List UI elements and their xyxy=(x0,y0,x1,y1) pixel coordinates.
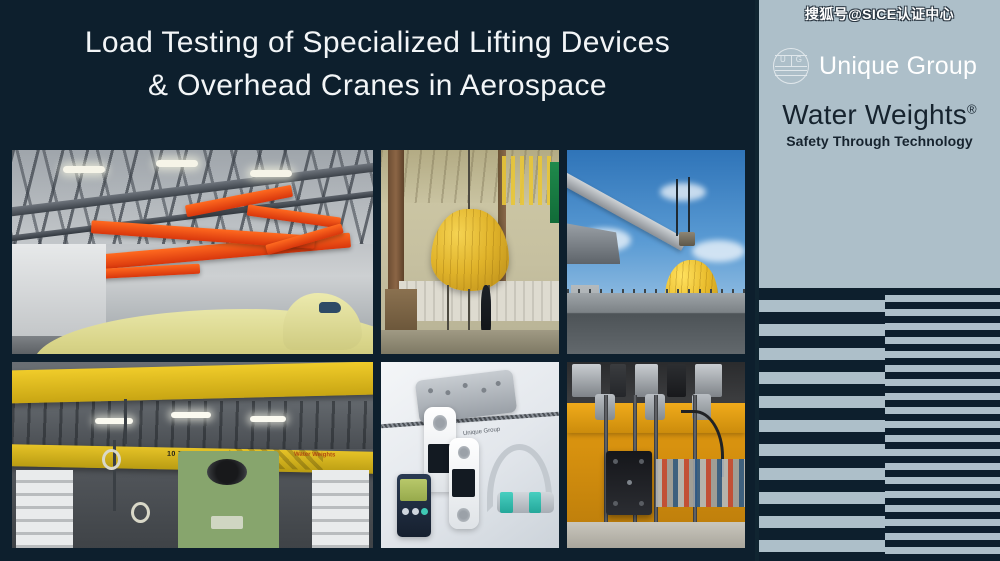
photo-yellow-gantry-10ton: 10 TON Water Weights Yellow overhead gan… xyxy=(12,362,373,548)
title-line-2: & Overhead Cranes in Aerospace xyxy=(24,65,731,108)
product-name: Water Weights® xyxy=(759,99,1000,131)
title-line-1: Load Testing of Specialized Lifting Devi… xyxy=(24,22,731,65)
registered-mark: ® xyxy=(967,102,977,117)
logo-letter-u: U xyxy=(780,55,786,65)
brand-lockup: U G Unique Group xyxy=(773,48,992,84)
photo-grid: Red overhead crane lifting beam above ai… xyxy=(12,150,743,548)
photo-crane-instrumentation: Instrumented crane girder underside with… xyxy=(567,362,745,548)
logo-letter-g: G xyxy=(796,55,802,65)
brand-tagline: Safety Through Technology xyxy=(759,133,1000,149)
unique-group-logo-icon: U G xyxy=(773,48,809,84)
brand-panel: 搜狐号@SICE认证中心 U G Unique Group Water Weig… xyxy=(759,0,1000,288)
watermark-text: 搜狐号@SICE认证中心 xyxy=(759,4,1000,24)
crane-brand-label: Water Weights xyxy=(294,452,335,459)
equipment-brand-label: Unique Group xyxy=(463,427,501,438)
photo-indoor-water-bag: Yellow water weight bag suspended indoor… xyxy=(381,150,559,354)
stripe-band-coarse xyxy=(759,288,885,561)
page-title: Load Testing of Specialized Lifting Devi… xyxy=(0,22,755,107)
brand-sidebar: 搜狐号@SICE认证中心 U G Unique Group Water Weig… xyxy=(755,0,1000,561)
photo-mobile-crane-outdoor: Mobile crane load testing with yellow wa… xyxy=(567,150,745,354)
product-name-text: Water Weights xyxy=(782,99,967,130)
photo-load-cell-equipment: Unique Group xyxy=(381,362,559,548)
company-name: Unique Group xyxy=(819,52,977,81)
photo-overhead-red-crane: Red overhead crane lifting beam above ai… xyxy=(12,150,373,354)
slide-canvas: Load Testing of Specialized Lifting Devi… xyxy=(0,0,1000,561)
stripe-band-fine xyxy=(885,288,1000,561)
